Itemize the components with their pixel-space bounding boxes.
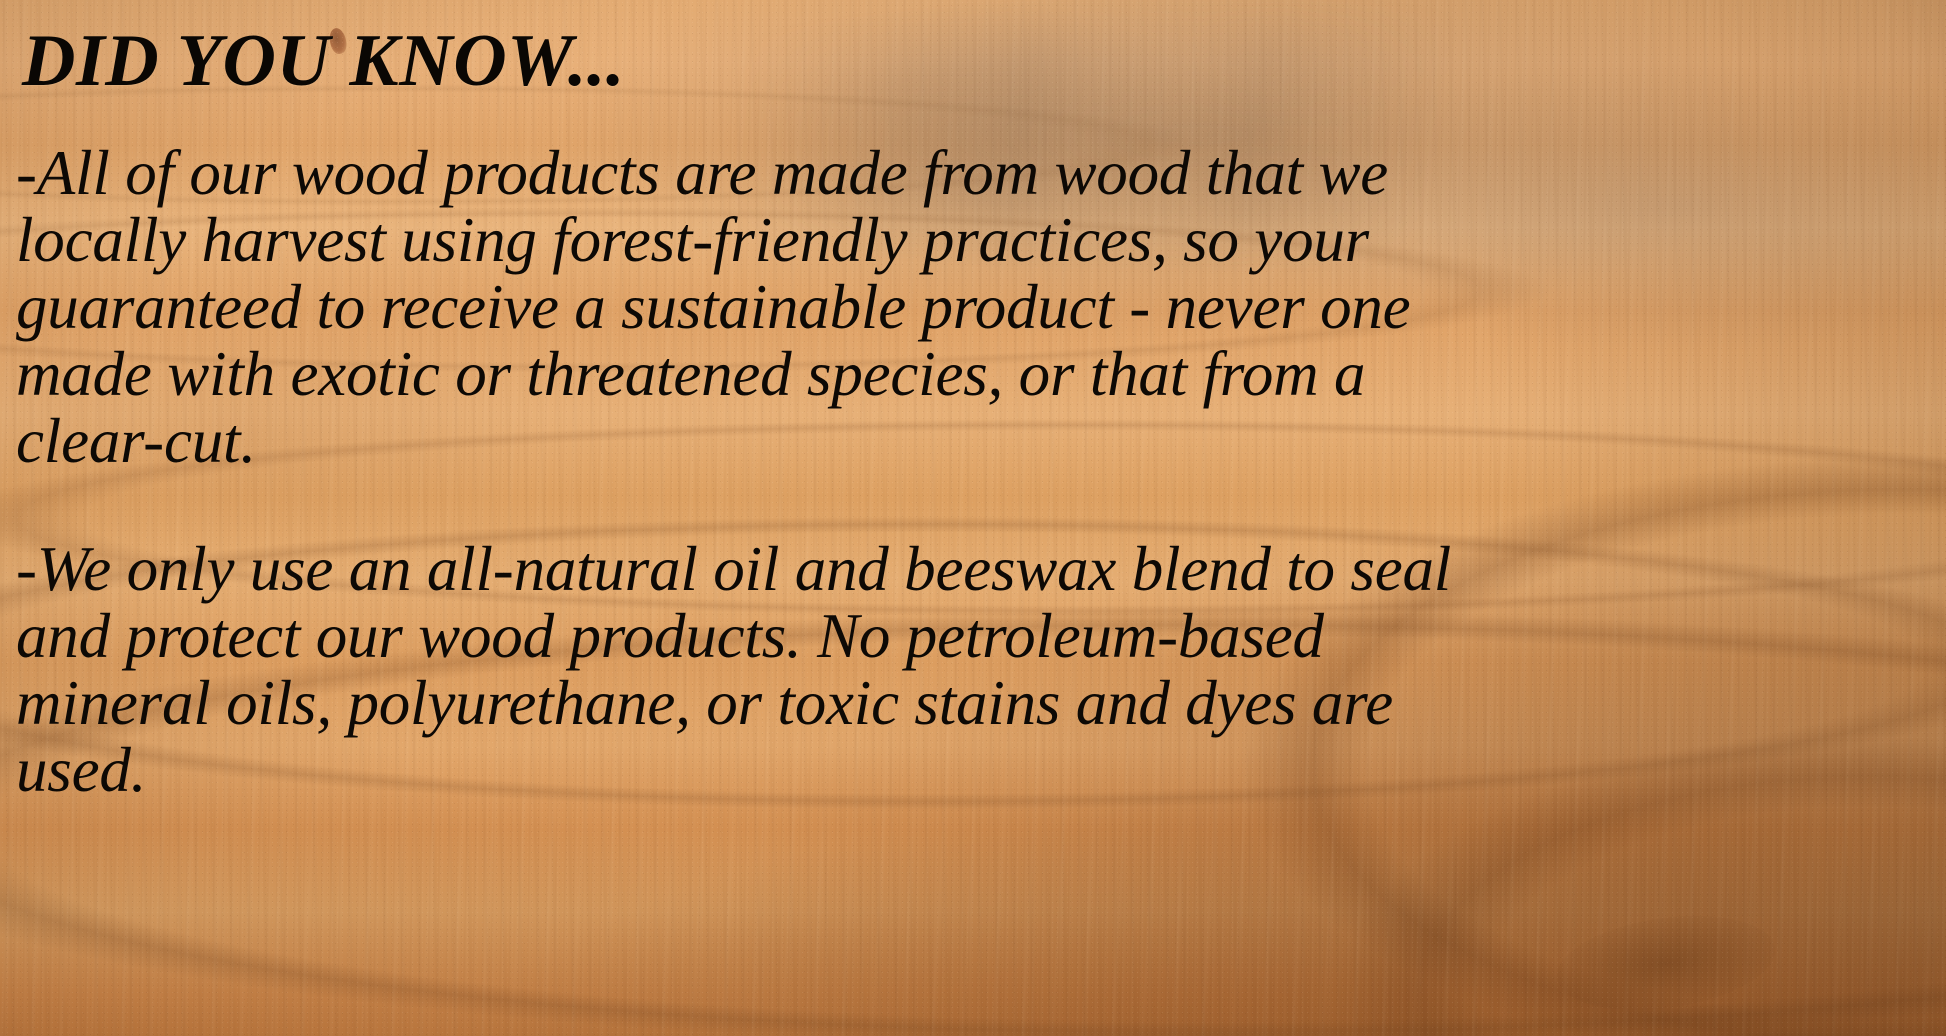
paragraph-line: guaranteed to receive a sustainable prod… [16, 274, 1926, 341]
paragraph-natural-finish: -We only use an all-natural oil and bees… [16, 536, 1926, 804]
paragraph-line: mineral oils, polyurethane, or toxic sta… [16, 670, 1926, 737]
paragraph-line: made with exotic or threatened species, … [16, 341, 1926, 408]
paragraph-line: locally harvest using forest-friendly pr… [16, 207, 1926, 274]
page-title: DID YOU KNOW... [22, 20, 625, 102]
paragraph-line: -All of our wood products are made from … [16, 140, 1926, 207]
paragraph-line: and protect our wood products. No petrol… [16, 603, 1926, 670]
wood-sign-poster: DID YOU KNOW... -All of our wood product… [0, 0, 1946, 1036]
paragraph-line: clear-cut. [16, 408, 1926, 475]
poster-content: DID YOU KNOW... -All of our wood product… [0, 0, 1946, 1036]
paragraph-line: used. [16, 737, 1926, 804]
paragraph-line: -We only use an all-natural oil and bees… [16, 536, 1926, 603]
paragraph-sustainable-harvest: -All of our wood products are made from … [16, 140, 1926, 475]
